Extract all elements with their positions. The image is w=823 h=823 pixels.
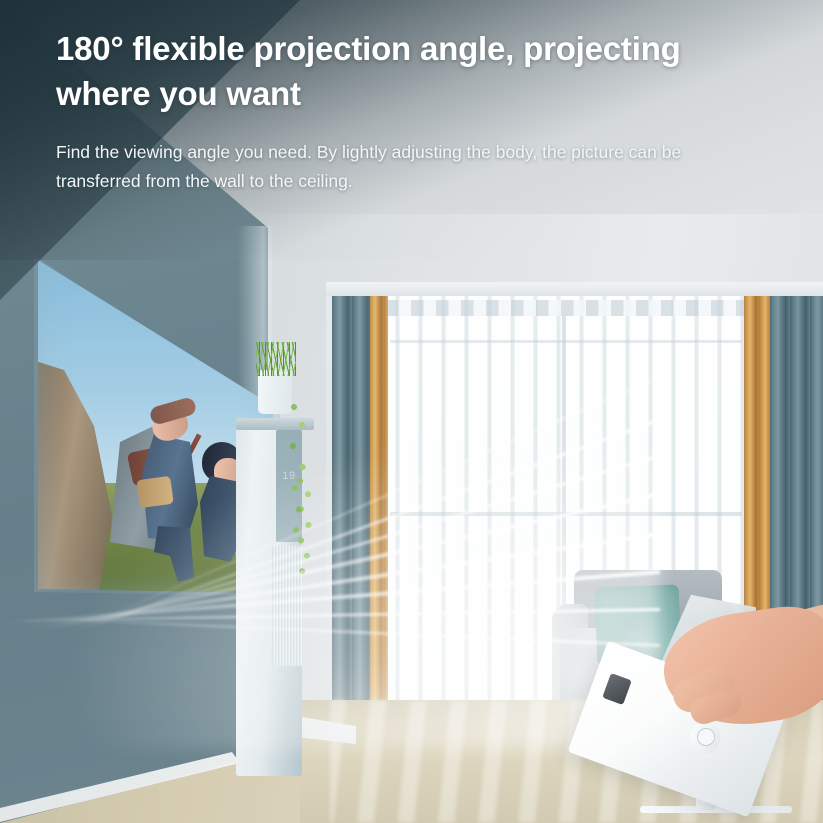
page-subtitle: Find the viewing angle you need. By ligh… <box>56 138 716 195</box>
window-mullion-horizontal <box>390 512 742 516</box>
curtain-header-tape <box>386 300 746 316</box>
blue-curtain-left <box>332 288 370 718</box>
projector-pivot-ring <box>697 728 715 746</box>
page-title: 180° flexible projection angle, projecti… <box>56 26 766 116</box>
header: 180° flexible projection angle, projecti… <box>0 0 823 230</box>
plant-pot <box>258 370 292 414</box>
grass-plant <box>256 342 296 376</box>
trailing-vine-short <box>294 470 314 580</box>
window-head-casing <box>326 282 823 296</box>
tan-curtain-left <box>369 292 388 716</box>
projected-character-hero <box>134 386 218 576</box>
character-satchel <box>136 476 174 508</box>
promo-banner: 19 180° flexible projection angle, proje… <box>0 0 823 823</box>
window-mullion-horizontal-top <box>390 340 742 343</box>
projector-stand-base <box>640 806 792 813</box>
character-legs <box>154 526 194 582</box>
